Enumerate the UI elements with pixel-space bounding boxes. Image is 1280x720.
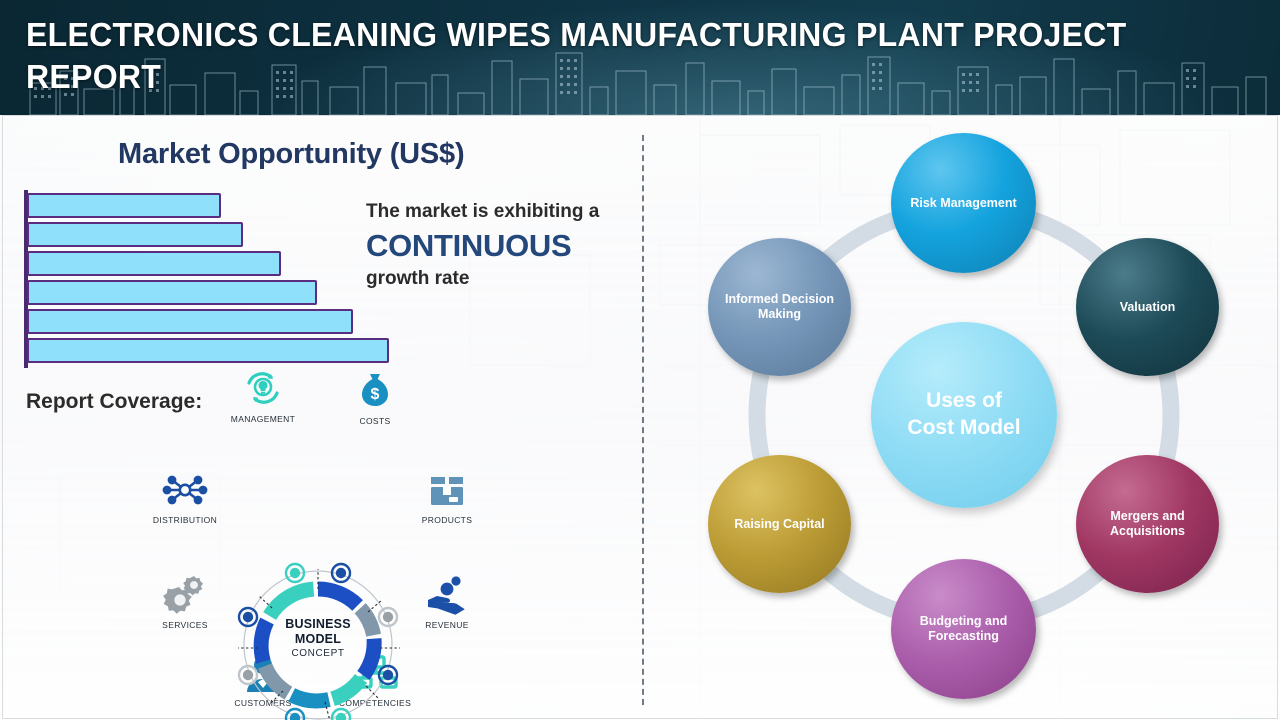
products-icon: [402, 465, 492, 511]
page-title: Electronics Cleaning Wipes Manufacturing…: [26, 14, 1205, 98]
node-label-risk-management: Risk Management: [904, 196, 1022, 211]
growth-highlight: CONTINUOUS: [366, 226, 628, 266]
node-label-budgeting-forecasting: Budgeting and Forecasting: [891, 614, 1036, 644]
center-label-line-2: Cost Model: [907, 415, 1020, 442]
header-banner: Electronics Cleaning Wipes Manufacturing…: [0, 0, 1280, 115]
node-budgeting-forecasting[interactable]: Budgeting and Forecasting: [891, 559, 1036, 699]
node-label-informed-decision-making: Informed Decision Making: [708, 292, 851, 322]
growth-line-3: growth rate: [366, 267, 628, 291]
coverage-item-management: MANAGEMENT: [218, 364, 308, 424]
services-icon: [140, 570, 230, 616]
coverage-label-services: SERVICES: [140, 620, 230, 630]
coverage-item-costs: $ COSTS: [330, 366, 420, 426]
slide-root: Electronics Cleaning Wipes Manufacturing…: [0, 0, 1280, 720]
node-label-mergers-acquisitions: Mergers and Acquisitions: [1076, 509, 1219, 539]
node-risk-management[interactable]: Risk Management: [891, 133, 1036, 273]
market-opportunity-bar-chart: [24, 190, 404, 370]
bar-6: [27, 338, 389, 363]
bar-2: [27, 222, 243, 247]
business-model-wheel: BUSINESS MODEL CONCEPT: [228, 555, 408, 720]
coverage-item-distribution: DISTRIBUTION: [140, 465, 230, 525]
revenue-icon: [402, 570, 492, 616]
bar-1: [27, 193, 221, 218]
coverage-item-products: PRODUCTS: [402, 465, 492, 525]
svg-text:$: $: [371, 386, 380, 403]
coverage-item-services: SERVICES: [140, 570, 230, 630]
uses-of-cost-model-diagram: Risk Management Valuation Mergers and Ac…: [642, 115, 1280, 720]
coverage-label-products: PRODUCTS: [402, 515, 492, 525]
coverage-label-costs: COSTS: [330, 416, 420, 426]
node-center-uses-of-cost-model[interactable]: Uses of Cost Model: [871, 322, 1057, 508]
growth-line-1: The market is exhibiting a: [366, 200, 628, 224]
coverage-item-revenue: REVENUE: [402, 570, 492, 630]
coverage-label-revenue: REVENUE: [402, 620, 492, 630]
node-mergers-acquisitions[interactable]: Mergers and Acquisitions: [1076, 455, 1219, 593]
bar-5: [27, 309, 353, 334]
costs-icon: $: [330, 366, 420, 412]
node-informed-decision-making[interactable]: Informed Decision Making: [708, 238, 851, 376]
node-label-raising-capital: Raising Capital: [728, 517, 830, 532]
node-raising-capital[interactable]: Raising Capital: [708, 455, 851, 593]
node-label-valuation: Valuation: [1114, 300, 1182, 315]
market-opportunity-title: Market Opportunity (US$): [118, 138, 464, 171]
bar-4: [27, 280, 317, 305]
bar-3: [27, 251, 281, 276]
coverage-label-distribution: DISTRIBUTION: [140, 515, 230, 525]
growth-statement: The market is exhibiting a CONTINUOUS gr…: [366, 200, 628, 291]
management-icon: [218, 364, 308, 410]
coverage-label-management: MANAGEMENT: [218, 414, 308, 424]
distribution-icon: [140, 465, 230, 511]
slide-body: Market Opportunity (US$) The market is e…: [0, 115, 1280, 720]
node-valuation[interactable]: Valuation: [1076, 238, 1219, 376]
center-label-line-1: Uses of: [907, 388, 1020, 415]
